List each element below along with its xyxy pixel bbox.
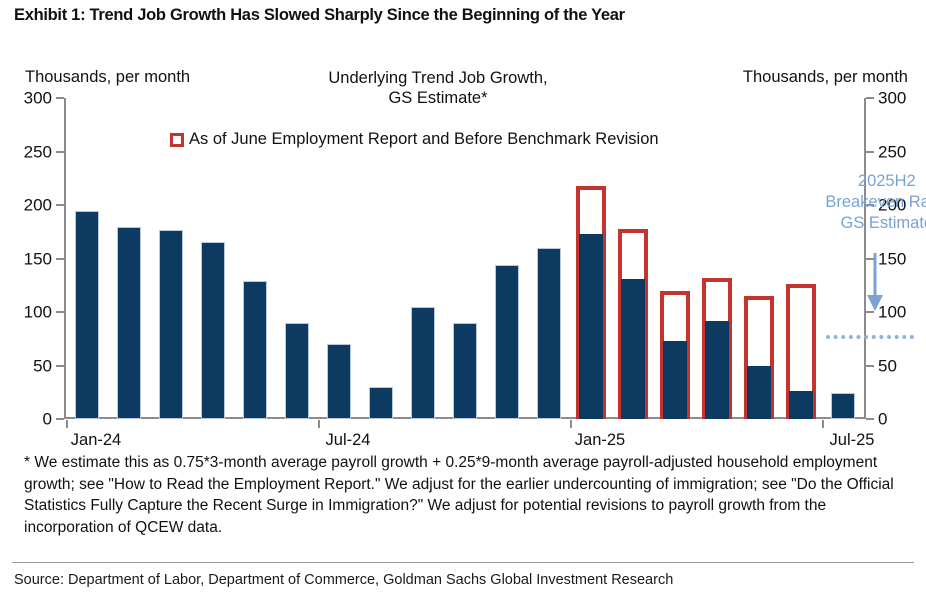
bar — [453, 323, 477, 419]
x-tick-label-Jan-24: Jan-24 — [71, 431, 121, 450]
bar — [831, 393, 855, 419]
x-tick-Jan-25 — [570, 420, 572, 428]
x-tick-label-Jul-25: Jul-25 — [830, 431, 875, 450]
y-tick-label-left-50: 50 — [33, 357, 52, 374]
right-axis-unit-caption: Thousands, per month — [743, 68, 908, 87]
bar — [705, 321, 729, 419]
down-arrow-icon — [864, 253, 886, 315]
breakeven-annotation: 2025H2 Breakeven Rate, GS Estimate — [797, 171, 926, 234]
bar — [201, 242, 225, 419]
page-title: Exhibit 1: Trend Job Growth Has Slowed S… — [14, 6, 914, 25]
source-divider — [12, 562, 914, 563]
y-tick-label-left-250: 250 — [24, 143, 52, 160]
x-tick-label-Jul-24: Jul-24 — [326, 431, 371, 450]
y-tick-left-0 — [56, 418, 64, 420]
chart-container: Thousands, per month Thousands, per mont… — [0, 60, 926, 450]
bar — [411, 307, 435, 419]
y-tick-right-50 — [866, 365, 874, 367]
y-tick-left-300 — [56, 97, 64, 99]
bar — [159, 230, 183, 419]
y-tick-label-right-0: 0 — [878, 411, 887, 428]
y-tick-right-0 — [866, 418, 874, 420]
x-tick-Jul-25 — [822, 420, 824, 428]
bar — [579, 234, 603, 419]
y-tick-left-100 — [56, 311, 64, 313]
bar — [621, 279, 645, 419]
y-tick-label-left-150: 150 — [24, 250, 52, 267]
bar — [285, 323, 309, 419]
y-tick-left-200 — [56, 204, 64, 206]
bar — [495, 265, 519, 419]
y-tick-label-left-100: 100 — [24, 304, 52, 321]
annotation-line2: Breakeven Rate, — [797, 192, 926, 213]
y-tick-label-left-300: 300 — [24, 90, 52, 107]
y-tick-label-right-250: 250 — [878, 143, 906, 160]
x-tick-Jul-24 — [318, 420, 320, 428]
plot-area: 050100150200250300 050100150200250300 Ja… — [66, 98, 864, 419]
bar — [369, 387, 393, 419]
chart-heading-line1: Underlying Trend Job Growth, — [278, 68, 598, 88]
footnote: * We estimate this as 0.75*3-month avera… — [24, 452, 908, 538]
bar — [75, 211, 99, 419]
bar — [747, 366, 771, 420]
x-tick-Jan-24 — [66, 420, 68, 428]
y-tick-label-right-300: 300 — [878, 90, 906, 107]
y-tick-left-150 — [56, 258, 64, 260]
y-tick-right-250 — [866, 151, 874, 153]
bar — [327, 344, 351, 419]
y-tick-label-left-200: 200 — [24, 197, 52, 214]
y-tick-label-left-0: 0 — [43, 411, 52, 428]
source-text: Source: Department of Labor, Department … — [14, 572, 673, 588]
breakeven-rate-line — [826, 335, 914, 339]
y-tick-left-250 — [56, 151, 64, 153]
annotation-line3: GS Estimate — [797, 213, 926, 234]
bar — [663, 341, 687, 419]
y-tick-right-300 — [866, 97, 874, 99]
bar — [243, 281, 267, 419]
y-tick-left-50 — [56, 365, 64, 367]
bar — [537, 248, 561, 419]
y-tick-label-right-50: 50 — [878, 357, 897, 374]
x-tick-label-Jan-25: Jan-25 — [575, 431, 625, 450]
y-axis-left — [64, 98, 66, 419]
left-axis-unit-caption: Thousands, per month — [25, 68, 190, 87]
bar — [789, 391, 813, 419]
annotation-line1: 2025H2 — [797, 171, 926, 192]
bar — [117, 227, 141, 419]
